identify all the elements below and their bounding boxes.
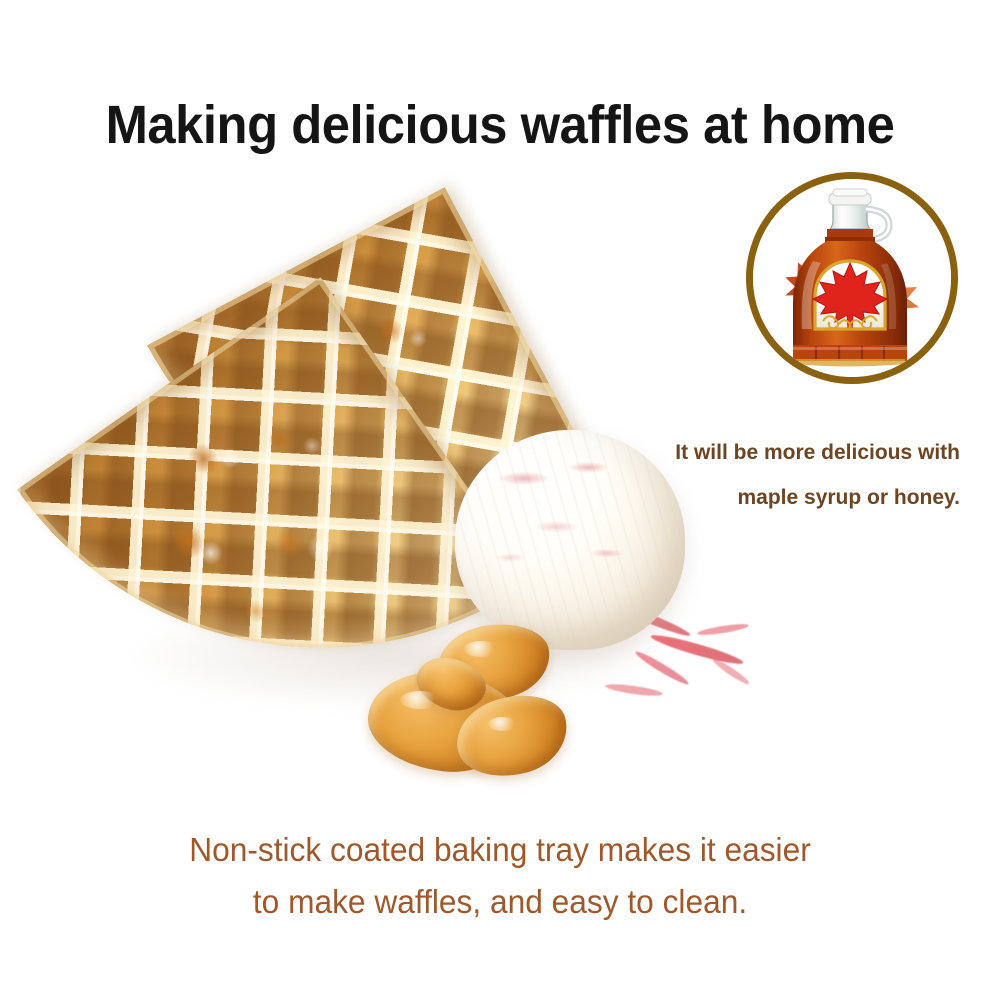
maple-syrup-bottle-icon bbox=[753, 179, 951, 377]
badge-inner bbox=[753, 179, 951, 377]
strawberry-swirl bbox=[455, 430, 685, 650]
food-photo-alt-text: Two golden waffle wedges with syrup, a s… bbox=[0, 0, 1, 1]
poster-canvas: Making delicious waffles at home bbox=[0, 0, 1000, 1000]
ice-cream-scoop bbox=[455, 430, 685, 650]
side-caption-line-1: It will be more delicious with bbox=[630, 430, 960, 475]
food-photo bbox=[60, 240, 760, 840]
maple-syrup-badge: Maple syrup bottle with red maple leaf l… bbox=[746, 172, 958, 384]
bottom-caption: Non-stick coated baking tray makes it ea… bbox=[20, 824, 980, 928]
syrup-bottle bbox=[793, 189, 907, 367]
badge-alt-text: Maple syrup bottle with red maple leaf l… bbox=[746, 172, 747, 173]
page-title: Making delicious waffles at home bbox=[30, 94, 970, 156]
fruit-compote bbox=[360, 625, 590, 805]
bottom-caption-line-2: to make waffles, and easy to clean. bbox=[20, 876, 980, 928]
bottom-caption-line-1: Non-stick coated baking tray makes it ea… bbox=[20, 824, 980, 876]
